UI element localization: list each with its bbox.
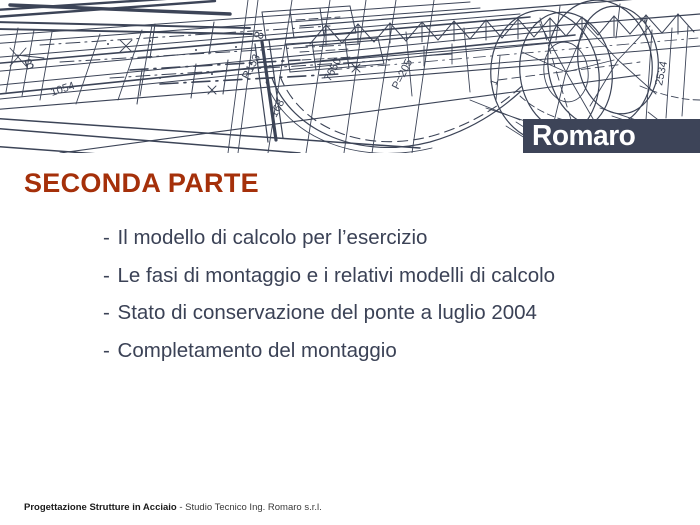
drawing-annotation: B <box>22 55 35 73</box>
footer-company-name: - Studio Tecnico Ing. Romaro s.r.l. <box>177 502 322 513</box>
bullet-dash: - <box>103 341 110 362</box>
drawing-annotation: 1054 <box>49 80 76 99</box>
footer: Progettazione Strutture in Acciaio - Stu… <box>24 503 322 513</box>
list-item: - Le fasi di montaggio e i relativi mode… <box>103 266 683 287</box>
list-item-label: Stato di conservazione del ponte a lugli… <box>118 301 537 324</box>
list-item: - Completamento del montaggio <box>103 341 683 362</box>
bullet-dash: - <box>103 228 110 249</box>
list-item-label: Il modello di calcolo per l’esercizio <box>118 226 428 249</box>
drawing-annotation: 2534 <box>653 60 670 86</box>
list-item: - Il modello di calcolo per l’esercizio <box>103 228 683 249</box>
slide-canvas: 1054 B R153 168 7650 P=205 2534 8 1 2 Ro… <box>0 0 700 525</box>
drawing-annotation: 1 <box>488 78 500 87</box>
romaro-logo: Romaro <box>523 119 700 153</box>
list-item: - Stato di conservazione del ponte a lug… <box>103 303 683 324</box>
bullet-list: - Il modello di calcolo per l’esercizio … <box>103 228 683 378</box>
list-item-label: Completamento del montaggio <box>118 339 397 362</box>
page-title: SECONDA PARTE <box>24 168 259 199</box>
romaro-logo-text: Romaro <box>532 122 635 151</box>
list-item-label: Le fasi di montaggio e i relativi modell… <box>118 264 556 287</box>
footer-company-activity: Progettazione Strutture in Acciaio <box>24 502 177 513</box>
bullet-dash: - <box>103 266 110 287</box>
bullet-dash: - <box>103 303 110 324</box>
